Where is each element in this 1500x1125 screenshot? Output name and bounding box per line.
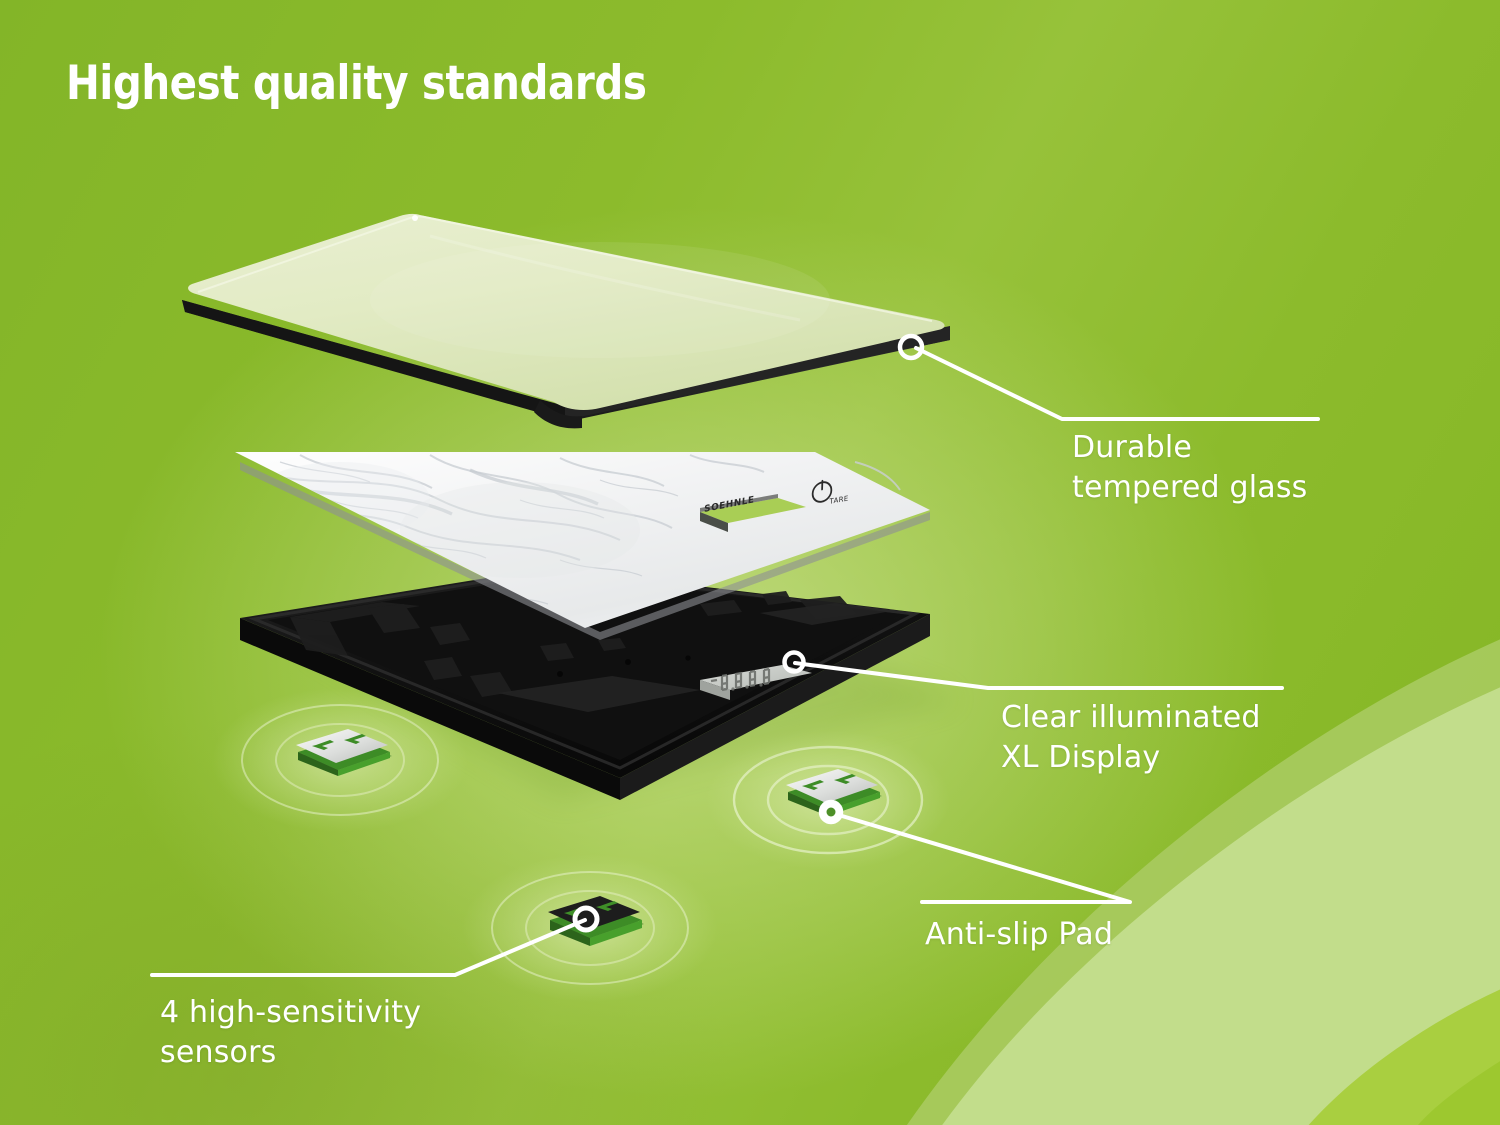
- product-illustration: SOEHNLE TARE: [0, 0, 1500, 1125]
- callout-label-clear-illuminated-xl-display: Clear illuminated XL Display: [1001, 698, 1261, 778]
- product-layer-glass: [182, 214, 950, 428]
- callout-label-anti-slip-pad: Anti-slip Pad: [925, 915, 1113, 955]
- infographic-canvas: Highest quality standards: [0, 0, 1500, 1125]
- callout-line-durable-tempered-glass: [916, 348, 1318, 419]
- ring-marker-pad-center: [827, 808, 836, 817]
- callout-label-durable-tempered-glass: Durable tempered glass: [1072, 428, 1307, 508]
- callout-label-high-sensitivity-sensors: 4 high-sensitivity sensors: [160, 993, 421, 1073]
- product-exploded-view: SOEHNLE TARE: [0, 0, 1500, 1125]
